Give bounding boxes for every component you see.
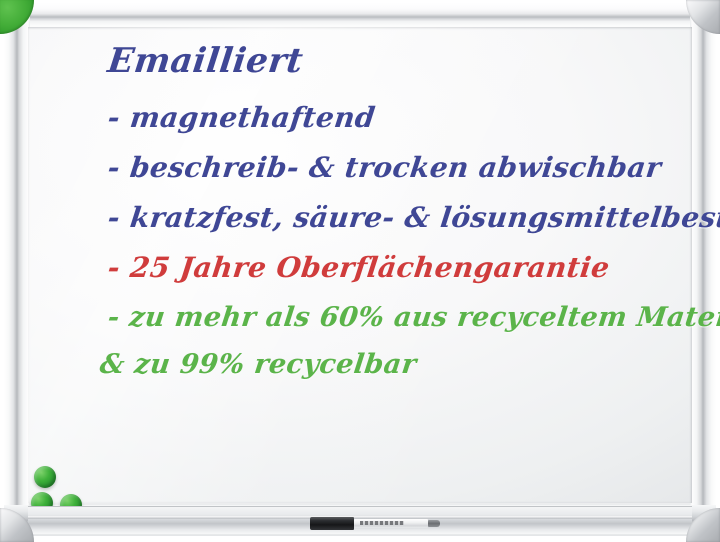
frame-rail-left	[4, 3, 30, 536]
frame-rail-right	[690, 3, 716, 536]
corner-cap-top-right	[684, 0, 720, 36]
marker-label	[360, 521, 404, 525]
whiteboard-scene: Emailliert - magnethaftend - beschreib- …	[0, 0, 720, 542]
corner-cap-bottom-left	[0, 506, 36, 542]
marker-tail	[428, 520, 440, 527]
note-line-recyceltes-material: - zu mehr als 60% aus recyceltem Materia…	[106, 304, 689, 331]
grey-corner-icon	[686, 0, 720, 34]
magnet-top[interactable]	[34, 466, 56, 488]
frame-rail-top	[4, 3, 716, 30]
handwritten-notes: Emailliert - magnethaftend - beschreib- …	[108, 44, 688, 378]
grey-corner-icon	[0, 508, 34, 542]
marker-cap	[310, 517, 354, 530]
note-line-magnethaftend: - magnethaftend	[106, 104, 689, 132]
note-line-bestaendig: - kratzfest, säure- & lösungsmittelbestä…	[106, 204, 689, 232]
note-line-garantie: - 25 Jahre Oberflächengarantie	[106, 254, 689, 282]
note-heading: Emailliert	[106, 44, 690, 78]
whiteboard-marker[interactable]	[310, 517, 440, 530]
note-line-recycelbar: & zu 99% recycelbar	[98, 351, 689, 378]
grey-corner-icon	[686, 508, 720, 542]
corner-cap-top-left	[0, 0, 36, 36]
corner-cap-bottom-right	[684, 506, 720, 542]
green-corner-icon	[0, 0, 34, 34]
note-line-abwischbar: - beschreib- & trocken abwischbar	[106, 154, 689, 182]
